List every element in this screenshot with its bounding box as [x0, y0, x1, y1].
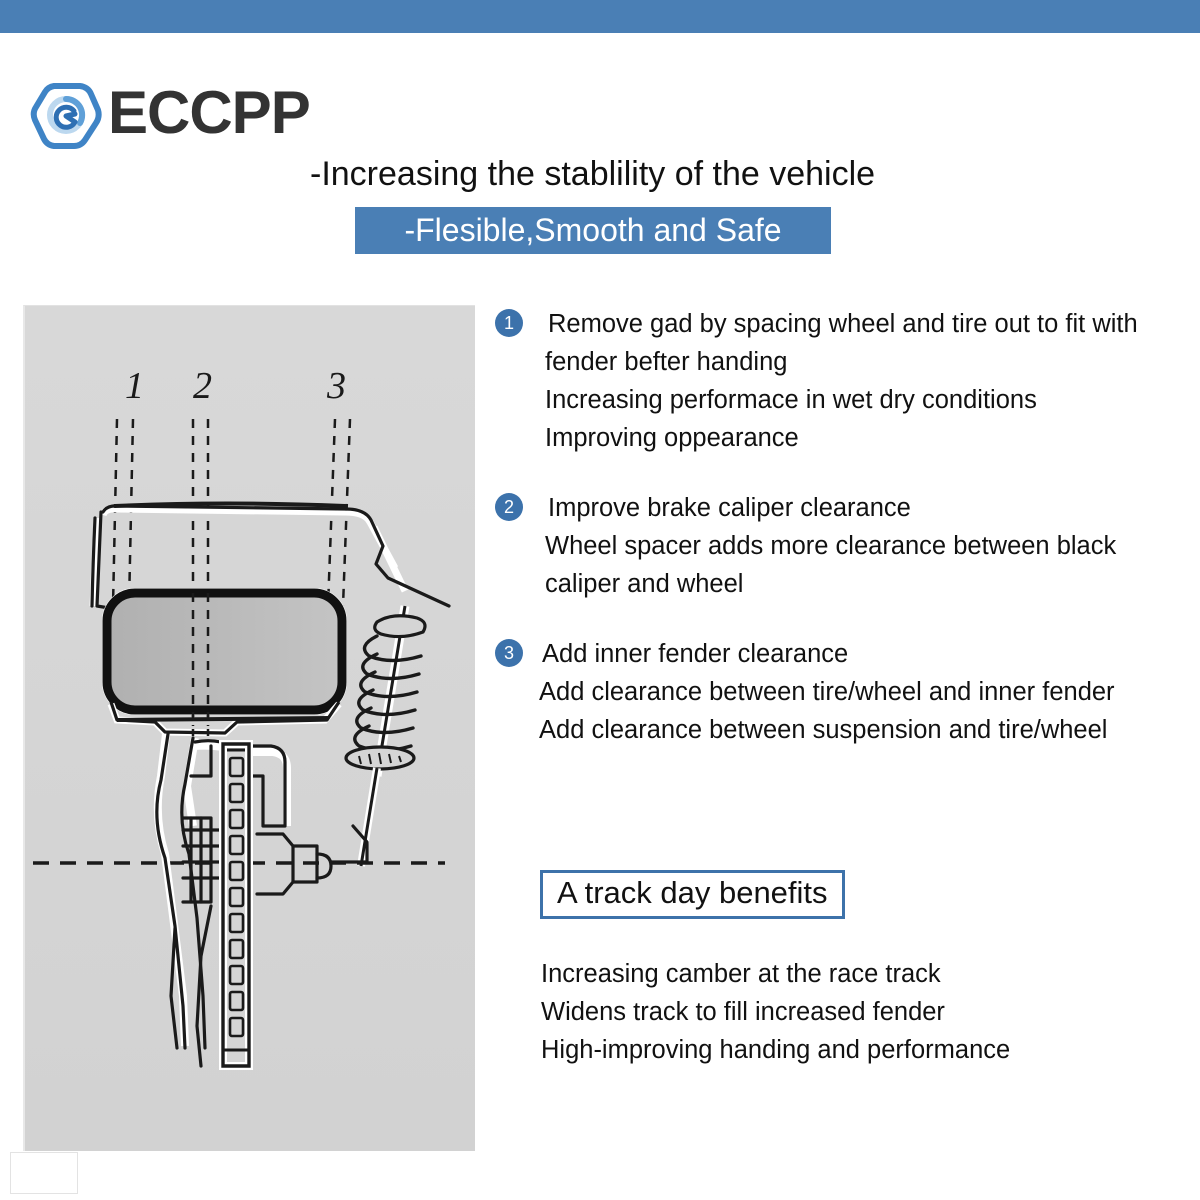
hexagon-swirl-icon	[30, 78, 104, 152]
bullet-2-line-2: Wheel spacer adds more clearance between…	[545, 527, 1190, 565]
bullet-1-line-2: fender befter handing	[545, 343, 1190, 381]
headline-text: -Increasing the stablility of the vehicl…	[310, 155, 875, 194]
bullet-badge-3: 3	[495, 639, 523, 667]
suspension-diagram: 1 2 3	[25, 306, 475, 1151]
benefits-line-1: Increasing camber at the race track	[541, 955, 1010, 993]
bullet-2-line-3: caliper and wheel	[545, 565, 1190, 603]
ghost-placeholder-box	[10, 1152, 78, 1194]
diagram-number-2: 2	[193, 365, 212, 407]
track-day-benefits-lines: Increasing camber at the race track Wide…	[541, 955, 1010, 1069]
benefits-bullet-list: 1 Remove gad by spacing wheel and tire o…	[495, 305, 1190, 773]
diagram-number-1: 1	[125, 365, 144, 407]
brake-rotor	[223, 744, 249, 1066]
bullet-1-lines: Remove gad by spacing wheel and tire out…	[545, 305, 1190, 457]
bullet-1-line-4: Improving oppearance	[545, 419, 1190, 457]
top-accent-bar	[0, 0, 1200, 33]
benefits-line-2: Widens track to fill increased fender	[541, 993, 1010, 1031]
bullet-1-line-1: Remove gad by spacing wheel and tire out…	[545, 305, 1190, 343]
bullet-item-3: 3 Add inner fender clearance Add clearan…	[495, 635, 1190, 749]
diagram-number-3: 3	[326, 365, 346, 407]
bullet-3-line-1: Add inner fender clearance	[539, 635, 1190, 673]
bullet-item-2: 2 Improve brake caliper clearance Wheel …	[495, 489, 1190, 603]
bullet-badge-2: 2	[495, 493, 523, 521]
bullet-1-line-3: Increasing performace in wet dry conditi…	[545, 381, 1190, 419]
brand-logo: ECCPP	[30, 78, 310, 152]
subline-band: -Flesible,Smooth and Safe	[355, 207, 831, 254]
bullet-3-line-3: Add clearance between suspension and tir…	[539, 711, 1190, 749]
suspension-diagram-panel: 1 2 3	[23, 305, 475, 1151]
bullet-2-lines: Improve brake caliper clearance Wheel sp…	[545, 489, 1190, 603]
bullet-3-lines: Add inner fender clearance Add clearance…	[539, 635, 1190, 749]
benefits-line-3: High-improving handing and performance	[541, 1031, 1010, 1069]
bullet-badge-1: 1	[495, 309, 523, 337]
track-day-benefits-title: A track day benefits	[557, 875, 828, 910]
subline-text: -Flesible,Smooth and Safe	[404, 212, 781, 249]
bullet-2-line-1: Improve brake caliper clearance	[545, 489, 1190, 527]
track-day-benefits-title-box: A track day benefits	[540, 870, 845, 919]
bullet-item-1: 1 Remove gad by spacing wheel and tire o…	[495, 305, 1190, 457]
upper-tire	[107, 593, 342, 710]
brand-wordmark: ECCPP	[108, 83, 310, 147]
bullet-3-line-2: Add clearance between tire/wheel and inn…	[539, 673, 1190, 711]
